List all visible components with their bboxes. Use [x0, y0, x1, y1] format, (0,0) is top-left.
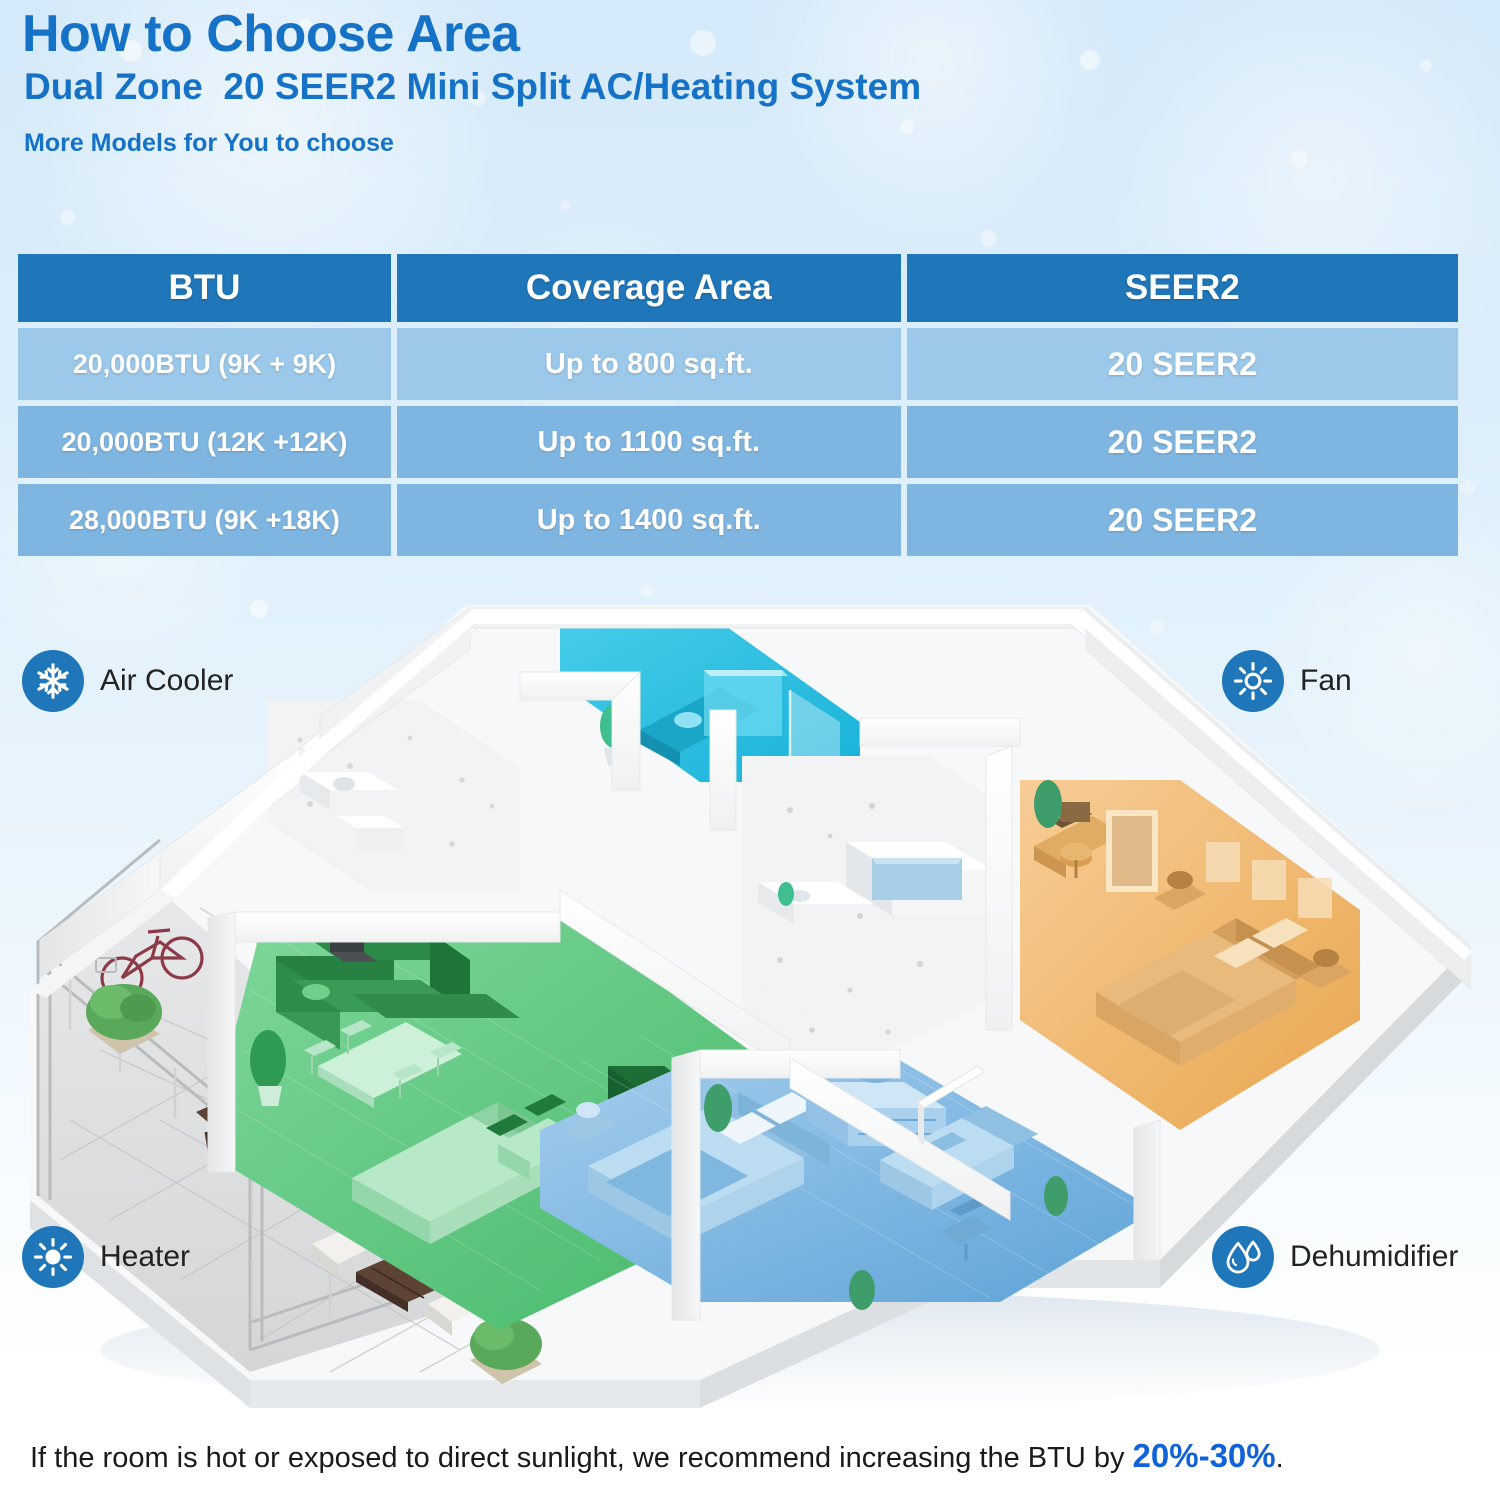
- infographic-page: How to Choose Area Dual Zone 20 SEER2 Mi…: [0, 0, 1500, 1488]
- table-row: 28,000BTU (9K +18K) Up to 1400 sq.ft. 20…: [18, 484, 1458, 556]
- cell-coverage: Up to 800 sq.ft.: [397, 328, 901, 400]
- floor-mirror: [1106, 810, 1158, 892]
- cell-coverage: Up to 1400 sq.ft.: [397, 484, 901, 556]
- cell-seer2: 20 SEER2: [907, 406, 1458, 478]
- footer-highlight: 20%-30%: [1133, 1437, 1276, 1474]
- footer-text-after: .: [1276, 1442, 1284, 1474]
- btu-coverage-table: BTU Coverage Area SEER2 20,000BTU (9K + …: [18, 254, 1458, 556]
- legend-dehumidifier: Dehumidifier: [1212, 1226, 1458, 1288]
- table-header-row: BTU Coverage Area SEER2: [18, 254, 1458, 322]
- legend-label: Dehumidifier: [1290, 1240, 1458, 1274]
- table-row: 20,000BTU (12K +12K) Up to 1100 sq.ft. 2…: [18, 406, 1458, 478]
- page-tagline: More Models for You to choose: [24, 129, 1322, 158]
- column-header-btu: BTU: [18, 254, 391, 322]
- sun-rays-icon: [1222, 650, 1284, 712]
- legend-air-cooler: Air Cooler: [22, 650, 233, 712]
- footer-text-before: If the room is hot or exposed to direct …: [30, 1442, 1133, 1474]
- table-row: 20,000BTU (9K + 9K) Up to 800 sq.ft. 20 …: [18, 328, 1458, 400]
- cell-btu: 20,000BTU (12K +12K): [18, 406, 391, 478]
- page-title: How to Choose Area: [22, 6, 1322, 62]
- cell-seer2: 20 SEER2: [907, 328, 1458, 400]
- column-header-seer2: SEER2: [907, 254, 1458, 322]
- header: How to Choose Area Dual Zone 20 SEER2 Mi…: [22, 6, 1322, 158]
- cell-btu: 20,000BTU (9K + 9K): [18, 328, 391, 400]
- cell-seer2: 20 SEER2: [907, 484, 1458, 556]
- legend-fan: Fan: [1222, 650, 1352, 712]
- cell-btu: 28,000BTU (9K +18K): [18, 484, 391, 556]
- page-subtitle: Dual Zone 20 SEER2 Mini Split AC/Heating…: [24, 66, 1322, 109]
- footer-note: If the room is hot or exposed to direct …: [30, 1437, 1480, 1475]
- legend-label: Heater: [100, 1240, 190, 1274]
- legend-heater: Heater: [22, 1226, 190, 1288]
- water-drops-icon: [1212, 1226, 1274, 1288]
- sun-filled-icon: [22, 1226, 84, 1288]
- snowflake-icon: [22, 650, 84, 712]
- legend-label: Air Cooler: [100, 664, 233, 698]
- column-header-coverage-area: Coverage Area: [397, 254, 901, 322]
- cell-coverage: Up to 1100 sq.ft.: [397, 406, 901, 478]
- legend-label: Fan: [1300, 664, 1352, 698]
